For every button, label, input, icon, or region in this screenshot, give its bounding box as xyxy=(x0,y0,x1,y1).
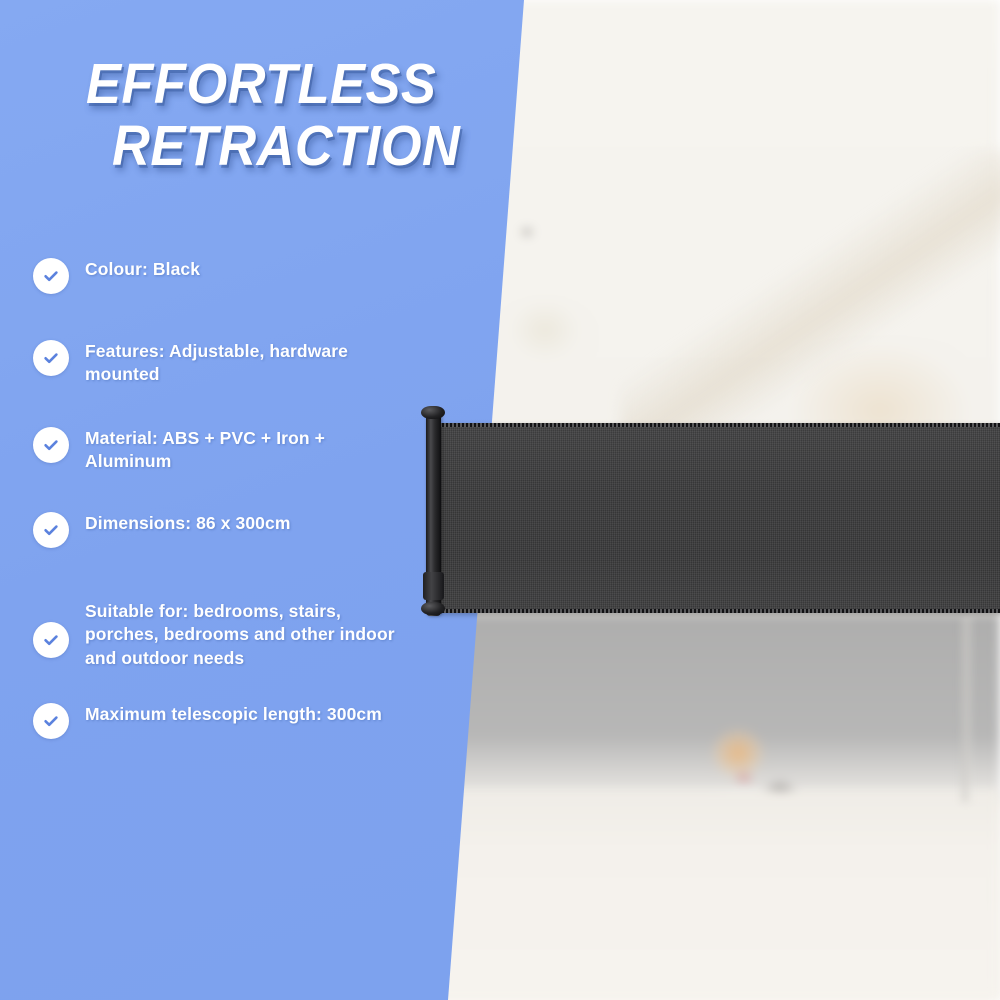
page-title: EFFORTLESS RETRACTION xyxy=(86,56,486,175)
feature-label: Suitable for: bedrooms, stairs, porches,… xyxy=(85,600,405,670)
list-item: Maximum telescopic length: 300cm xyxy=(33,703,453,739)
blurred-floor-band xyxy=(430,790,1000,1000)
check-circle-icon xyxy=(33,512,69,548)
gate-post-bottom-cap xyxy=(421,602,445,615)
list-item: Dimensions: 86 x 300cm xyxy=(33,512,453,548)
feature-list: Colour: Black Features: Adjustable, hard… xyxy=(33,258,453,757)
check-circle-icon xyxy=(33,258,69,294)
gate-mesh-panel xyxy=(430,423,1000,613)
list-item: Material: ABS + PVC + Iron + Aluminum xyxy=(33,427,453,474)
check-circle-icon xyxy=(33,340,69,376)
blurred-doorway-diagonal xyxy=(620,150,1000,440)
list-item: Suitable for: bedrooms, stairs, porches,… xyxy=(33,600,453,670)
feature-label: Dimensions: 86 x 300cm xyxy=(85,512,291,535)
feature-label: Features: Adjustable, hardware mounted xyxy=(85,340,415,387)
blurred-wall-seam xyxy=(962,612,972,802)
headline-line-2: RETRACTION xyxy=(112,118,456,174)
product-feature-banner: EFFORTLESS RETRACTION Colour: Black Feat… xyxy=(0,0,1000,1000)
list-item: Colour: Black xyxy=(33,258,453,294)
check-circle-icon xyxy=(33,703,69,739)
check-circle-icon xyxy=(33,622,69,658)
gate-lower-bracket xyxy=(423,572,444,600)
feature-label: Colour: Black xyxy=(85,258,200,281)
headline-line-1: EFFORTLESS xyxy=(86,56,454,112)
list-item: Features: Adjustable, hardware mounted xyxy=(33,340,453,387)
feature-label: Maximum telescopic length: 300cm xyxy=(85,703,382,726)
feature-label: Material: ABS + PVC + Iron + Aluminum xyxy=(85,427,415,474)
check-circle-icon xyxy=(33,427,69,463)
gate-post-top-cap xyxy=(421,406,445,419)
